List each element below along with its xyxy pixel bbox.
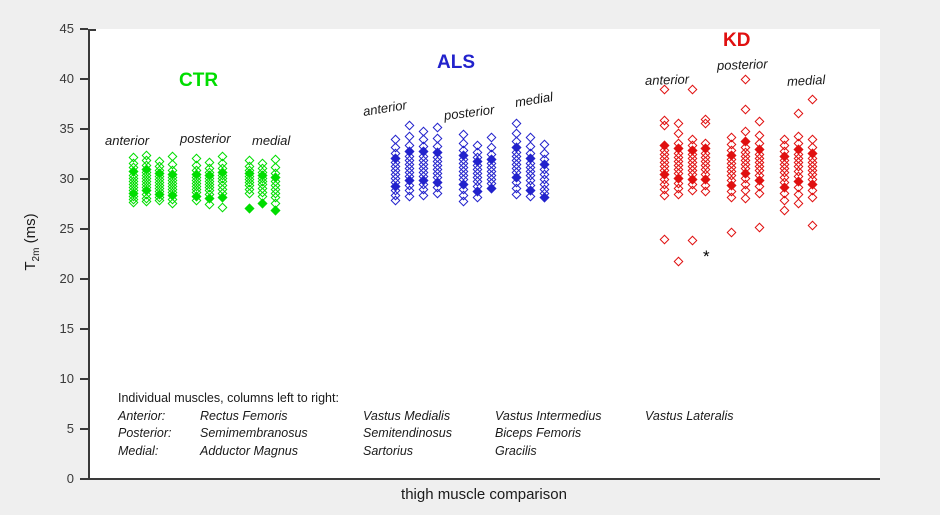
muscle-legend-muscle-name: Gracilis [495,443,645,461]
muscle-legend-muscle-name: Semimembranosus [200,425,363,443]
muscle-legend-region-label: Posterior: [118,425,200,443]
muscle-legend-rows: Anterior:Rectus FemorisVastus MedialisVa… [118,408,795,461]
muscle-legend-muscle-name: Semitendinosus [363,425,495,443]
significance-asterisk: * [703,248,710,265]
y-axis-tick-label: 25 [60,222,74,235]
muscle-legend: Individual muscles, columns left to righ… [118,390,795,460]
cluster-label-kd-posterior: posterior [717,56,768,73]
y-axis-tick-label: 10 [60,372,74,385]
muscle-legend-muscle-name: Sartorius [363,443,495,461]
muscle-legend-muscle-name: Adductor Magnus [200,443,363,461]
x-axis-title: thigh muscle comparison [88,486,880,503]
group-title-kd: KD [723,30,750,52]
y-axis-tick [80,428,88,430]
y-axis-tick-label: 15 [60,322,74,335]
muscle-legend-region-label: Anterior: [118,408,200,426]
y-axis-tick-label: 45 [60,22,74,35]
cluster-label-kd-medial: medial [787,72,826,89]
axis-corner-tick-top [88,29,96,31]
group-title-ctr: CTR [179,70,218,92]
y-axis-title-main: T [22,261,39,270]
muscle-legend-row: Anterior:Rectus FemorisVastus MedialisVa… [118,408,795,426]
muscle-legend-muscle-name: Biceps Femoris [495,425,645,443]
muscle-legend-heading: Individual muscles, columns left to righ… [118,390,795,408]
y-axis-tick [80,478,88,480]
cluster-label-ctr-posterior: posterior [180,131,231,146]
y-axis-title: T2m (ms) [22,182,42,302]
muscle-legend-muscle-name: Vastus Lateralis [645,408,795,426]
y-axis-title-subscript: 2m [31,248,42,262]
figure-canvas: 051015202530354045 CTRALSKD anteriorpost… [0,0,940,515]
y-axis-tick [80,278,88,280]
y-axis-tick-label: 5 [67,422,74,435]
muscle-legend-row: Medial:Adductor MagnusSartoriusGracilis [118,443,795,461]
axis-corner-tick-right [872,478,880,480]
y-axis-tick [80,28,88,30]
group-title-als: ALS [437,52,475,74]
y-axis-tick-label: 35 [60,122,74,135]
cluster-label-ctr-anterior: anterior [105,133,149,148]
y-axis-tick [80,328,88,330]
y-axis-tick-label: 20 [60,272,74,285]
muscle-legend-muscle-name: Rectus Femoris [200,408,363,426]
y-axis-tick [80,228,88,230]
y-axis-tick-label: 40 [60,72,74,85]
muscle-legend-muscle-name: Vastus Intermedius [495,408,645,426]
y-axis-tick [80,78,88,80]
cluster-label-ctr-medial: medial [252,133,290,148]
y-axis-tick-label: 0 [67,472,74,485]
y-axis-tick [80,378,88,380]
muscle-legend-region-label: Medial: [118,443,200,461]
y-axis-tick-label: 30 [60,172,74,185]
y-axis-title-unit: (ms) [22,213,39,247]
y-axis-tick [80,128,88,130]
cluster-label-kd-anterior: anterior [645,71,690,88]
y-axis-tick [80,178,88,180]
muscle-legend-row: Posterior:SemimembranosusSemitendinosusB… [118,425,795,443]
muscle-legend-muscle-name: Vastus Medialis [363,408,495,426]
